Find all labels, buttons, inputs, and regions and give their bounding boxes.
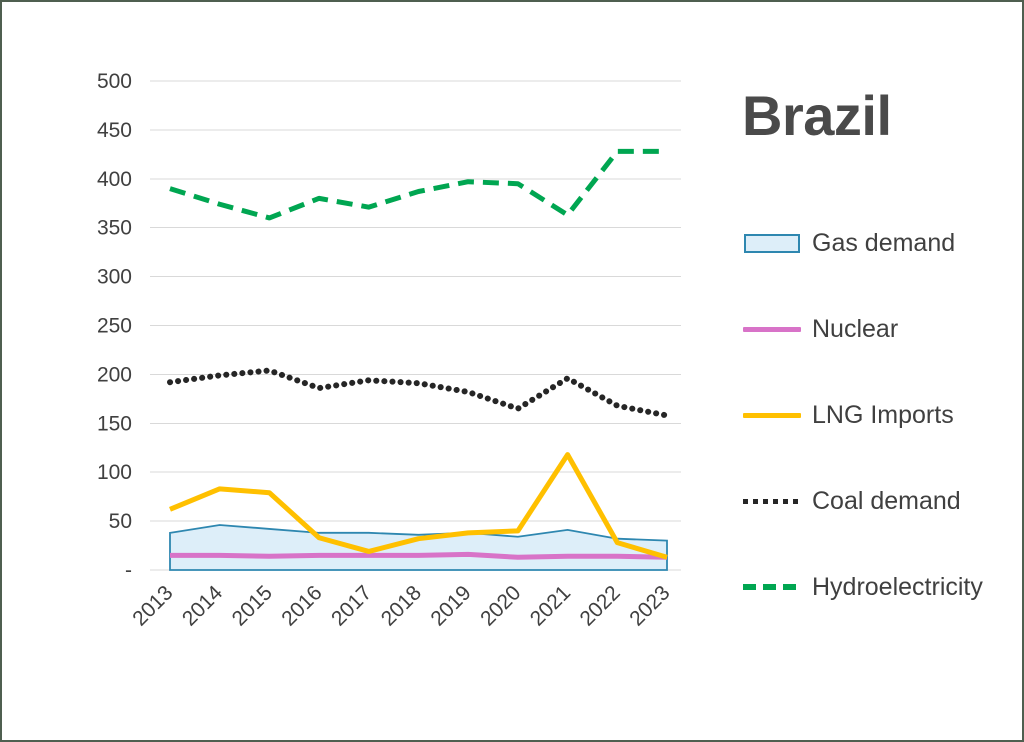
legend-item-lng-imports[interactable]: LNG Imports bbox=[742, 372, 1022, 458]
legend-item-nuclear[interactable]: Nuclear bbox=[742, 286, 1022, 372]
y-tick-label: 450 bbox=[97, 119, 132, 142]
series-line-hydroelectricity bbox=[170, 151, 667, 218]
x-tick-label: 2021 bbox=[526, 581, 575, 630]
chart-card: -50100150200250300350400450500 201320142… bbox=[2, 2, 1022, 740]
x-tick-label: 2019 bbox=[426, 581, 475, 630]
y-tick-label: - bbox=[125, 559, 132, 582]
x-tick-label: 2013 bbox=[128, 581, 177, 630]
x-tick-label: 2015 bbox=[228, 581, 277, 630]
x-tick-label: 2016 bbox=[277, 581, 326, 630]
x-tick-label: 2020 bbox=[476, 581, 525, 630]
y-tick-label: 400 bbox=[97, 168, 132, 191]
y-tick-label: 250 bbox=[97, 315, 132, 338]
y-tick-label: 150 bbox=[97, 412, 132, 435]
legend-label-lng-imports: LNG Imports bbox=[812, 401, 954, 430]
x-tick-label: 2018 bbox=[377, 581, 426, 630]
y-tick-label: 100 bbox=[97, 461, 132, 484]
gridlines-group bbox=[150, 81, 681, 570]
y-tick-label: 200 bbox=[97, 363, 132, 386]
y-tick-label: 350 bbox=[97, 217, 132, 240]
legend-item-hydroelectricity[interactable]: Hydroelectricity bbox=[742, 544, 1022, 630]
series-line-coal-demand bbox=[170, 370, 667, 415]
legend-label-gas-demand: Gas demand bbox=[812, 229, 955, 258]
y-tick-label: 300 bbox=[97, 266, 132, 289]
legend-label-coal-demand: Coal demand bbox=[812, 487, 961, 516]
x-tick-label: 2023 bbox=[625, 581, 674, 630]
x-tick-label: 2022 bbox=[576, 581, 625, 630]
x-axis-tick-labels: 2013201420152016201720182019202020212022… bbox=[128, 581, 674, 631]
chart-title: Brazil bbox=[742, 88, 892, 144]
chart-frame: -50100150200250300350400450500 201320142… bbox=[0, 0, 1024, 742]
legend-swatch-nuclear-icon bbox=[742, 318, 802, 340]
series-area-gas-demand bbox=[170, 525, 667, 570]
x-tick-label: 2014 bbox=[178, 581, 228, 631]
legend-swatch-lng-imports-icon bbox=[742, 404, 802, 426]
series-line-nuclear bbox=[170, 554, 667, 557]
legend-item-coal-demand[interactable]: Coal demand bbox=[742, 458, 1022, 544]
y-axis-tick-labels: -50100150200250300350400450500 bbox=[97, 70, 132, 582]
y-tick-label: 50 bbox=[109, 510, 132, 533]
legend-swatch-coal-demand-icon bbox=[742, 490, 802, 512]
y-tick-label: 500 bbox=[97, 70, 132, 93]
legend-label-hydroelectricity: Hydroelectricity bbox=[812, 573, 983, 602]
legend-swatch-gas-demand-icon bbox=[742, 232, 802, 254]
legend-label-nuclear: Nuclear bbox=[812, 315, 898, 344]
legend-swatch-hydroelectricity-icon bbox=[742, 576, 802, 598]
chart-legend: Gas demand Nuclear LNG Imports Coal dema… bbox=[742, 200, 1022, 630]
x-tick-label: 2017 bbox=[327, 581, 376, 630]
legend-item-gas-demand[interactable]: Gas demand bbox=[742, 200, 1022, 286]
series-group bbox=[170, 151, 667, 570]
